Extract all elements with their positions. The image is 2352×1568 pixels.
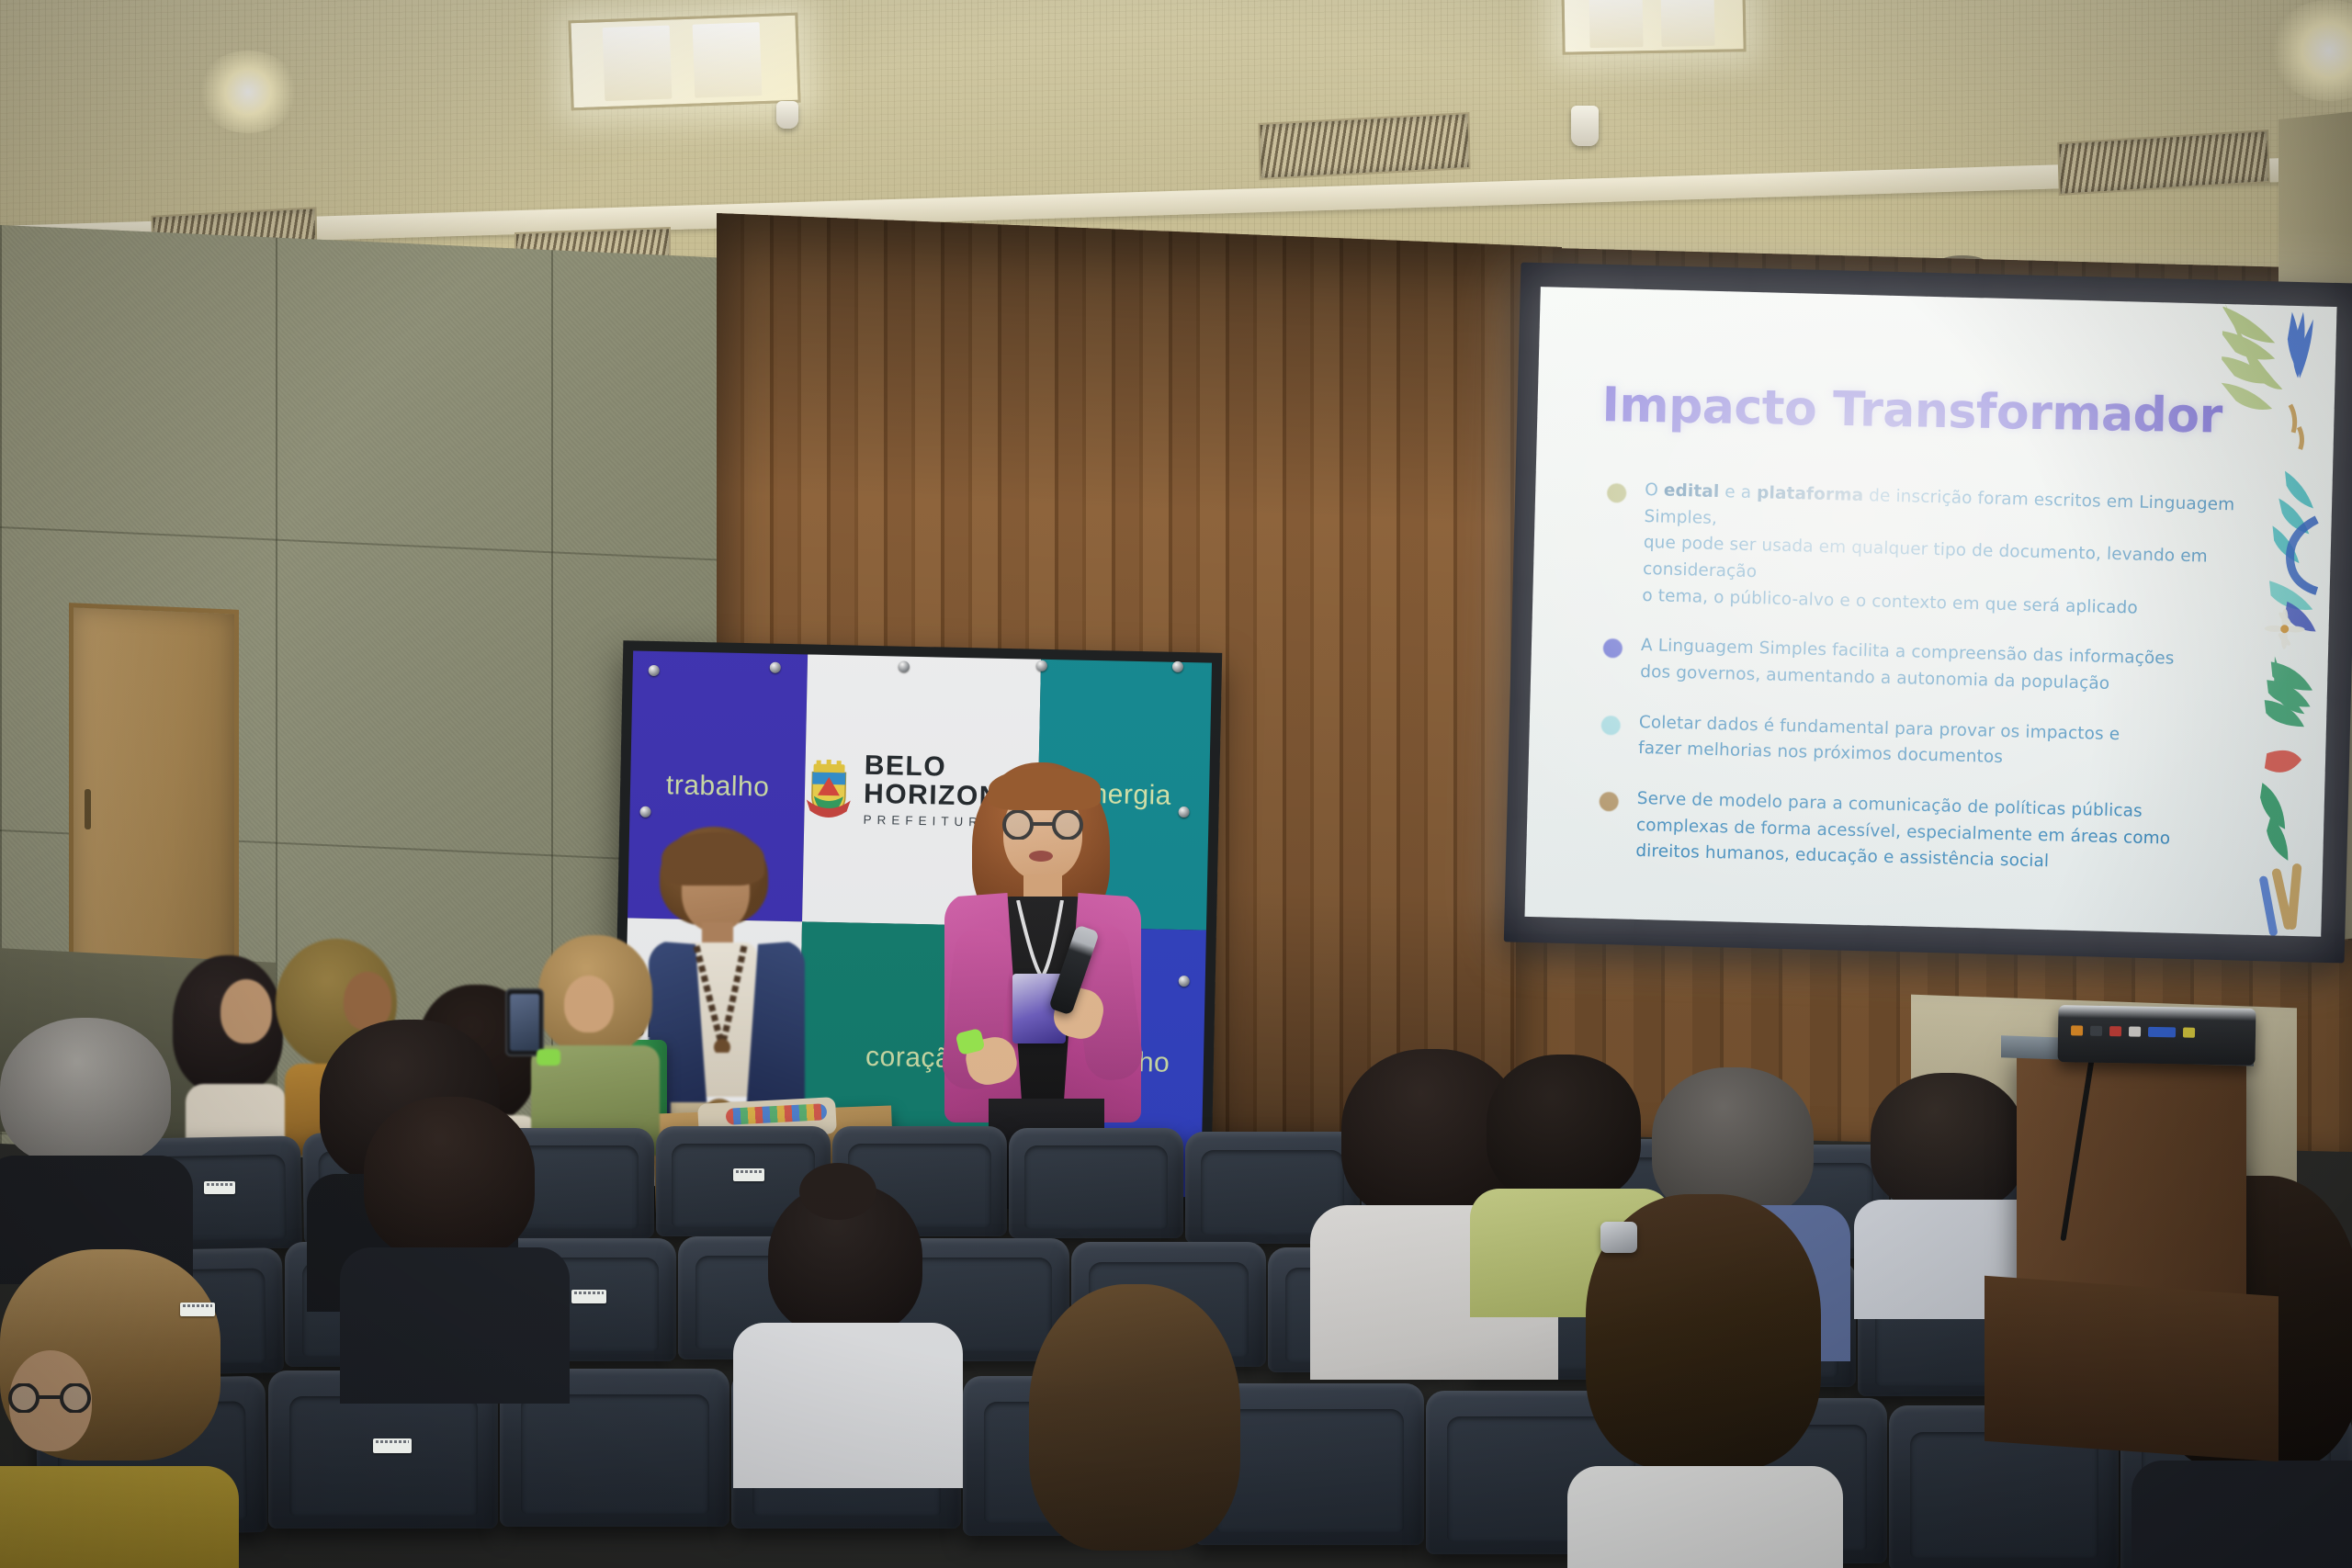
slide-surface: Impacto Transformador O edital e a plata… <box>1524 287 2336 937</box>
slide-title: Impacto Transformador <box>1601 378 2222 444</box>
banner-keyword: trabalho <box>666 770 770 803</box>
audience-hair <box>1487 1055 1641 1201</box>
speaker-hair-fringe <box>989 768 1101 810</box>
bullet-dot-indigo <box>1603 638 1623 659</box>
seat-number-tag <box>180 1303 215 1316</box>
slide-bullet: Coletar dados é fundamental para provar … <box>1600 709 2245 778</box>
audience-member <box>1029 1284 1249 1568</box>
seat-number-tag <box>733 1168 764 1181</box>
audience-torso <box>1567 1466 1843 1568</box>
audience-torso <box>2131 1461 2352 1568</box>
audience-wristwatch <box>1600 1222 1637 1253</box>
slide-bullet-text: Serve de modelo para a comunicação de po… <box>1635 786 2171 879</box>
projection-screen: Impacto Transformador O edital e a plata… <box>1504 263 2352 964</box>
lower-cabinet <box>1984 1276 2278 1461</box>
audience-hair-long <box>1029 1284 1240 1551</box>
side-door[interactable] <box>69 603 239 996</box>
port-power <box>2071 1025 2083 1035</box>
audience-hair <box>364 1097 535 1260</box>
audience-member <box>364 1097 548 1372</box>
bullet-dot-tan <box>1599 792 1619 812</box>
speaker-glasses <box>998 810 1093 840</box>
audience-torso <box>340 1247 570 1404</box>
seat-number-tag <box>373 1438 412 1453</box>
co-presenter-hair-front <box>661 832 764 886</box>
bullet-dot-cyan <box>1601 716 1622 736</box>
port-audio-red <box>2109 1026 2121 1036</box>
security-camera <box>1571 106 1599 146</box>
seat-number-tag <box>204 1181 235 1194</box>
auditorium-seat[interactable] <box>1009 1128 1183 1238</box>
audience-torso <box>0 1466 239 1568</box>
audience-member <box>0 1018 184 1247</box>
audience-member <box>0 1249 239 1568</box>
bullet-dot-olive <box>1607 483 1627 503</box>
seat-number-tag <box>571 1290 606 1303</box>
port-hdmi <box>2183 1027 2195 1037</box>
audience-hair <box>1871 1073 2025 1211</box>
port-audio-white <box>2129 1026 2141 1036</box>
audience-member <box>1871 1073 2036 1284</box>
slide-bullet: Serve de modelo para a comunicação de po… <box>1598 785 2243 881</box>
audience-hair-bun-knot <box>799 1163 876 1220</box>
video-projector <box>2057 1005 2256 1066</box>
audience-wristband <box>537 1049 560 1066</box>
ceiling-light-fixture <box>1561 0 1746 55</box>
audience-head <box>564 976 614 1032</box>
audience-member <box>173 955 292 1139</box>
co-presenter-necklace <box>684 944 761 1053</box>
slide-bullet-list: O edital e a plataforma de inscrição for… <box>1597 477 2250 905</box>
audience-hair-gray <box>0 1018 171 1165</box>
slide-bullet: A Linguagem Simples facilita a compreens… <box>1602 632 2246 701</box>
projector-ports <box>2071 1025 2195 1037</box>
slide-bullet-text: A Linguagem Simples facilita a compreens… <box>1640 633 2175 699</box>
port-usb <box>2090 1026 2102 1036</box>
smartphone-screen <box>510 994 539 1051</box>
door-handle[interactable] <box>85 789 91 829</box>
audience-head <box>220 979 272 1043</box>
smoke-detector <box>776 101 798 129</box>
port-vga <box>2148 1027 2176 1038</box>
ceiling-downlight <box>198 51 299 133</box>
slide-bullet-text: O edital e a plataforma de inscrição for… <box>1642 478 2250 625</box>
audience-glasses <box>4 1383 105 1413</box>
city-coat-of-arms-icon <box>805 759 854 818</box>
slide-bullet: O edital e a plataforma de inscrição for… <box>1604 477 2250 625</box>
hvac-vent <box>1258 112 1470 180</box>
ceiling-light-fixture <box>568 13 800 111</box>
slide-bullet-text: Coletar dados é fundamental para provar … <box>1638 710 2120 775</box>
speaker-mouth <box>1029 851 1053 862</box>
audience-torso <box>733 1323 963 1488</box>
speaker <box>900 762 1176 1157</box>
audience-member <box>761 1183 944 1459</box>
auditorium-presentation-scene: Impacto Transformador O edital e a plata… <box>0 0 2352 1568</box>
